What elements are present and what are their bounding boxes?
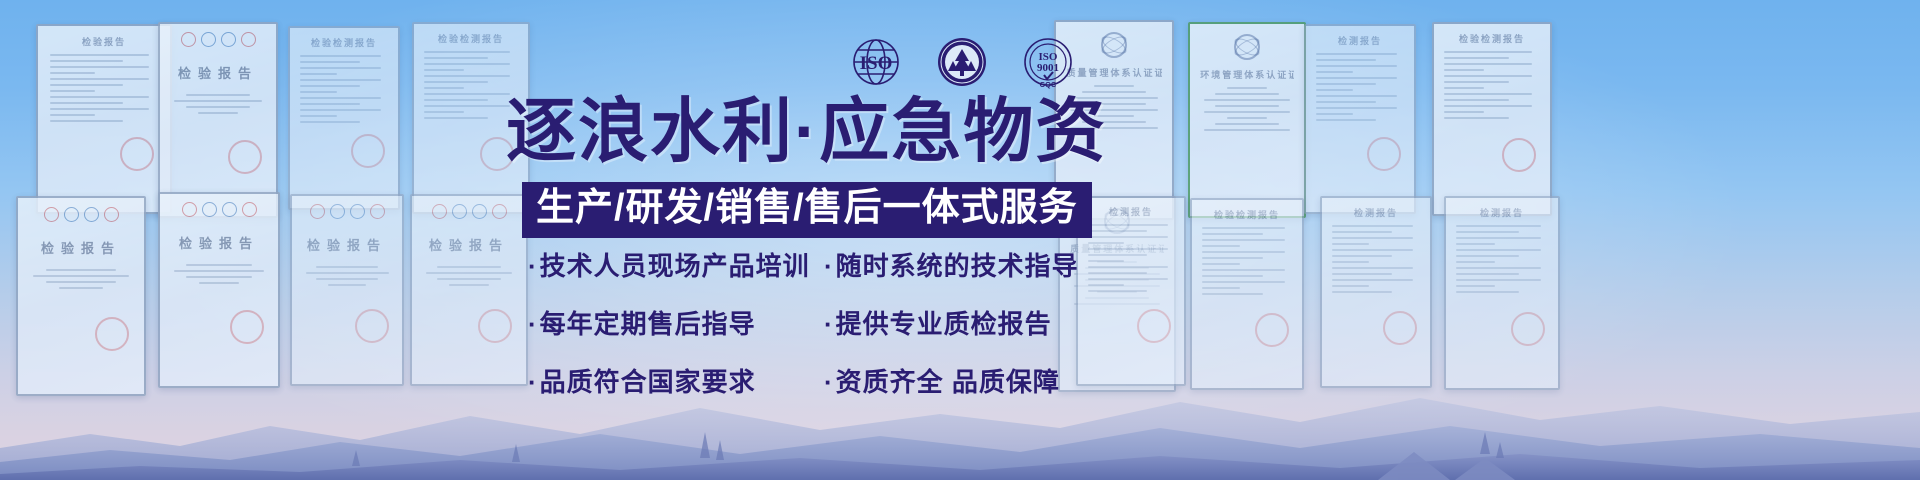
certificate-text-line xyxy=(50,78,150,80)
certificate-title: 环境管理体系认证证书 xyxy=(1200,68,1294,81)
certificate-text-line xyxy=(1332,285,1369,287)
certificate-text-line xyxy=(424,51,510,53)
certificate-text-line xyxy=(1332,249,1413,251)
certificate-text-line xyxy=(1332,261,1369,263)
certificate-emblem-icon xyxy=(1101,32,1127,58)
certificate-stamp-icon xyxy=(351,134,385,168)
certificate-text-line xyxy=(437,278,501,280)
certificate-seal-row xyxy=(302,204,392,219)
certificate-title: 质量管理体系认证证书 xyxy=(1066,66,1161,79)
certificate-seal-row xyxy=(422,204,516,219)
certificate-text-line xyxy=(1332,273,1392,275)
certificate-text-line xyxy=(33,275,128,277)
promo-banner: 检验报告检验报告检验检测报告检验检测报告检验报告检验报告检验报告检验报告质量管理… xyxy=(0,0,1920,480)
certificate-seal-icon xyxy=(472,204,487,219)
certificate-text-line xyxy=(1456,261,1495,263)
certificate-text-line xyxy=(1088,242,1125,244)
certificate-text-line xyxy=(1082,121,1147,123)
certificate-text-line xyxy=(1456,231,1518,233)
certificate-text-line xyxy=(1202,281,1285,283)
certificate-seal-icon xyxy=(452,204,467,219)
certificate-text-line xyxy=(1202,233,1263,235)
certificate-title: 检测报告 xyxy=(1316,34,1405,47)
certificate-text-line xyxy=(1094,115,1134,117)
certificate-text-line xyxy=(437,266,501,268)
certificate-title: 检验报告 xyxy=(422,235,516,254)
certificate-text-line xyxy=(1202,287,1240,289)
certificate-text-line xyxy=(1332,243,1369,245)
certificate-text-line xyxy=(316,266,377,268)
certificate-text-line xyxy=(1456,249,1540,251)
certificate-thumbnail: 检测报告 xyxy=(1304,24,1416,214)
certificate-text-line xyxy=(1088,290,1147,292)
certificate-thumbnail: 环境管理体系认证证书 xyxy=(1188,22,1306,218)
certificate-text-line xyxy=(300,115,337,117)
certificate-seal-icon xyxy=(202,202,217,217)
certificate-seal-icon xyxy=(370,204,385,219)
certificate-text-line xyxy=(1070,109,1158,111)
certificate-text-line xyxy=(1316,107,1397,109)
certificate-title: 检验检测报告 xyxy=(300,36,389,49)
certificate-text-line xyxy=(1088,248,1168,250)
certificate-seal-row xyxy=(170,32,265,47)
certificate-text-line xyxy=(300,61,360,63)
certificate-text-line xyxy=(306,272,389,274)
certificate-text-line xyxy=(46,281,116,283)
certificate-text-line xyxy=(300,121,360,123)
certificate-seal-icon xyxy=(310,204,325,219)
certificate-text-line xyxy=(1316,53,1397,55)
certificate-seal-icon xyxy=(350,204,365,219)
certificate-thumbnail: 检验报告 xyxy=(36,24,172,214)
certificate-text-line xyxy=(50,84,124,86)
certificate-text-line xyxy=(1202,239,1285,241)
certificate-text-line xyxy=(424,75,510,77)
certificate-text-line xyxy=(1202,245,1240,247)
certificate-text-line xyxy=(1444,51,1532,53)
certificate-text-line xyxy=(50,90,95,92)
certificate-text-line xyxy=(1444,63,1532,65)
certificate-thumbnail: 质量管理体系认证证书 xyxy=(1054,20,1174,220)
certificate-text-line xyxy=(1316,59,1376,61)
certificate-text-line xyxy=(1088,266,1168,268)
certificate-text-line xyxy=(59,287,102,289)
certificate-text-line xyxy=(1456,267,1540,269)
certificate-text-line xyxy=(1444,75,1532,77)
certificate-text-line xyxy=(1088,224,1168,226)
certificate-title: 检验报告 xyxy=(50,35,158,48)
certificate-seal-icon xyxy=(182,202,197,217)
certificate-text-line xyxy=(186,276,252,278)
certificate-text-line xyxy=(50,72,95,74)
certificate-text-line xyxy=(1444,57,1509,59)
certificate-text-line xyxy=(1444,99,1509,101)
certificate-stamp-icon xyxy=(1367,137,1401,171)
certificate-text-line xyxy=(1202,269,1285,271)
certificate-text-line xyxy=(449,284,488,286)
certificate-text-line xyxy=(424,57,488,59)
certificate-text-line xyxy=(1316,65,1397,67)
certificate-text-line xyxy=(300,55,381,57)
certificate-text-line xyxy=(50,66,150,68)
certificate-seal-icon xyxy=(201,32,216,47)
certificate-title: 检测报告 xyxy=(1456,206,1548,219)
certificate-text-line xyxy=(186,94,251,96)
certificate-text-line xyxy=(1204,99,1290,101)
certificate-seal-row xyxy=(29,207,132,222)
certificate-text-line xyxy=(50,108,150,110)
certificate-title: 检验报告 xyxy=(302,235,392,254)
certificate-text-line xyxy=(1082,103,1147,105)
mountain-landscape xyxy=(0,330,1920,480)
certificate-text-line xyxy=(300,79,381,81)
certificate-text-line xyxy=(300,67,381,69)
certificate-thumbnail: 检验检测报告 xyxy=(412,22,530,214)
certificate-seal-icon xyxy=(222,202,237,217)
certificate-text-line xyxy=(300,91,337,93)
certificate-text-line xyxy=(1202,257,1263,259)
certificate-text-line xyxy=(1316,89,1353,91)
certificate-text-line xyxy=(1456,255,1518,257)
certificate-emblem-icon xyxy=(1234,34,1260,60)
certificate-stamp-icon xyxy=(1502,138,1536,172)
certificate-seal-row xyxy=(171,202,268,217)
certificate-text-line xyxy=(1215,93,1279,95)
certificate-text-line xyxy=(46,269,116,271)
certificate-seal-icon xyxy=(64,207,79,222)
certificate-text-line xyxy=(1088,278,1168,280)
certificate-text-line xyxy=(1088,284,1125,286)
certificate-text-line xyxy=(1202,293,1263,295)
certificate-text-line xyxy=(426,272,512,274)
certificate-text-line xyxy=(1444,93,1532,95)
certificate-text-line xyxy=(1070,127,1158,129)
certificate-text-line xyxy=(424,87,463,89)
certificate-text-line xyxy=(1227,87,1266,89)
certificate-text-line xyxy=(424,93,510,95)
mountain-silhouette-icon xyxy=(0,330,1920,480)
certificate-text-line xyxy=(1070,97,1158,99)
certificate-text-line xyxy=(300,85,360,87)
certificate-text-line xyxy=(1316,83,1376,85)
certificate-text-line xyxy=(424,117,488,119)
certificate-text-line xyxy=(1456,279,1540,281)
certificate-text-line xyxy=(316,278,377,280)
certificate-text-line xyxy=(1202,227,1285,229)
certificate-title: 检验报告 xyxy=(170,63,265,82)
certificate-text-line xyxy=(1202,263,1240,265)
certificate-title: 检验检测报告 xyxy=(1202,208,1292,221)
certificate-text-line xyxy=(1456,285,1495,287)
certificate-text-line xyxy=(424,63,510,65)
certificate-seal-icon xyxy=(242,202,257,217)
certificate-text-line xyxy=(50,102,124,104)
certificate-text-line xyxy=(1456,237,1540,239)
certificate-text-line xyxy=(174,270,263,272)
certificate-text-line xyxy=(424,105,510,107)
certificate-seal-icon xyxy=(44,207,59,222)
certificate-text-line xyxy=(1088,236,1168,238)
certificate-text-line xyxy=(1094,85,1134,87)
certificate-text-line xyxy=(1088,254,1147,256)
certificate-text-line xyxy=(1088,272,1147,274)
certificate-text-line xyxy=(1227,117,1266,119)
certificate-thumbnail: 检验检测报告 xyxy=(1432,22,1552,216)
certificate-text-line xyxy=(199,282,240,284)
certificate-thumbnail: 检验报告 xyxy=(158,22,278,218)
certificate-text-line xyxy=(1316,71,1353,73)
certificate-text-line xyxy=(1456,225,1540,227)
certificate-stamp-icon xyxy=(480,137,514,171)
certificate-text-line xyxy=(300,109,381,111)
certificate-text-line xyxy=(424,111,463,113)
certificate-text-line xyxy=(300,73,337,75)
certificate-title: 检测报告 xyxy=(1088,205,1175,218)
certificate-text-line xyxy=(1204,129,1290,131)
certificate-seal-icon xyxy=(241,32,256,47)
certificate-text-line xyxy=(1456,273,1518,275)
certificate-text-line xyxy=(50,60,124,62)
certificate-text-line xyxy=(300,97,381,99)
certificate-text-line xyxy=(300,103,360,105)
certificate-stamp-icon xyxy=(228,140,262,174)
certificate-text-line xyxy=(424,99,488,101)
certificate-seal-icon xyxy=(432,204,447,219)
certificate-title: 检验报告 xyxy=(171,233,268,252)
certificate-text-line xyxy=(1444,117,1509,119)
certificate-title: 检验检测报告 xyxy=(1444,32,1539,45)
certificate-text-line xyxy=(1316,101,1376,103)
certificate-text-line xyxy=(198,112,238,114)
certificate-text-line xyxy=(1332,225,1413,227)
certificate-seal-icon xyxy=(84,207,99,222)
certificate-text-line xyxy=(424,69,463,71)
certificate-text-line xyxy=(1456,243,1495,245)
certificate-text-line xyxy=(50,114,95,116)
certificate-title: 检验报告 xyxy=(29,238,132,257)
certificate-text-line xyxy=(50,120,124,122)
certificate-seal-icon xyxy=(181,32,196,47)
certificate-text-line xyxy=(1202,275,1263,277)
certificate-text-line xyxy=(1215,123,1279,125)
certificate-text-line xyxy=(1088,230,1147,232)
certificate-text-line xyxy=(174,100,262,102)
certificate-seal-icon xyxy=(492,204,507,219)
certificate-thumbnail: 检验检测报告 xyxy=(288,26,400,210)
certificate-text-line xyxy=(1215,105,1279,107)
certificate-text-line xyxy=(1332,279,1413,281)
certificate-text-line xyxy=(1444,111,1484,113)
certificate-text-line xyxy=(1332,291,1392,293)
certificate-seal-icon xyxy=(330,204,345,219)
certificate-title: 检测报告 xyxy=(1332,206,1421,219)
certificate-text-line xyxy=(186,264,252,266)
certificate-text-line xyxy=(1444,87,1484,89)
certificate-text-line xyxy=(1202,251,1285,253)
certificate-text-line xyxy=(1444,69,1484,71)
certificate-text-line xyxy=(1316,95,1397,97)
certificate-seal-icon xyxy=(104,207,119,222)
certificate-text-line xyxy=(1332,255,1392,257)
certificate-text-line xyxy=(1444,81,1509,83)
certificate-text-line xyxy=(50,96,150,98)
certificate-text-line xyxy=(1088,260,1125,262)
certificate-text-line xyxy=(1316,77,1397,79)
certificate-text-line xyxy=(1316,113,1353,115)
certificate-text-line xyxy=(186,106,251,108)
certificate-text-line xyxy=(328,284,366,286)
certificate-text-line xyxy=(1204,111,1290,113)
certificate-text-line xyxy=(1332,231,1392,233)
certificate-seal-icon xyxy=(221,32,236,47)
certificate-text-line xyxy=(1332,237,1413,239)
certificate-text-line xyxy=(1332,267,1413,269)
certificate-text-line xyxy=(50,54,150,56)
certificate-text-line xyxy=(1444,105,1532,107)
certificate-text-line xyxy=(424,81,488,83)
certificate-title: 检验检测报告 xyxy=(424,32,518,45)
certificate-stamp-icon xyxy=(120,137,154,171)
certificate-text-line xyxy=(1316,119,1376,121)
certificate-text-line xyxy=(1456,291,1518,293)
certificate-text-line xyxy=(1082,91,1147,93)
